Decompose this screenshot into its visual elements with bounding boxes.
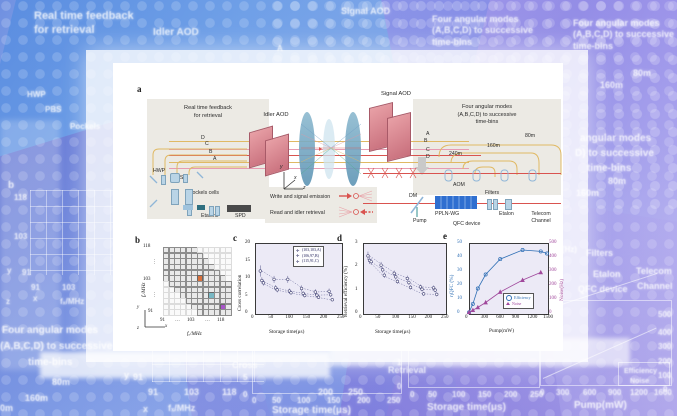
background-ghost-text: 118	[222, 387, 237, 398]
panel-e-lineplot: ηQFC (%) Noise(Hz) Pump(mW) 030060090012…	[441, 231, 563, 345]
panel-e-ylabel: ηQFC (%)	[449, 275, 455, 297]
background-ghost-text: 200	[504, 390, 517, 400]
background-ghost-text: 50	[428, 390, 437, 400]
background-ghost-text: 91	[133, 372, 143, 383]
data-point	[331, 298, 334, 301]
background-ghost-text: Retrieval	[388, 365, 426, 376]
background-ghost-text: time-bins	[28, 357, 72, 370]
background-ghost-text: 0	[397, 382, 401, 392]
background-ghost-text: Four angular modes(A,B,C,D) to successiv…	[432, 14, 533, 48]
feedback-box-title: Real time feedbackfor retrieval	[153, 105, 263, 120]
axis-tick-label: 50	[375, 315, 380, 320]
panel-b-xtick-dots2: ⋯	[205, 318, 210, 324]
background-ghost-text: 1200	[630, 388, 648, 398]
background-ghost-text: 103	[14, 232, 27, 242]
axis-tick-label: 1200	[527, 315, 537, 320]
background-ghost-text: Idler AOD	[153, 27, 199, 40]
axis-tick-label: 30	[457, 268, 462, 273]
data-point	[303, 294, 306, 297]
panel-c-legend-row-2: ✛(115,91,C)	[296, 259, 321, 265]
data-point	[435, 293, 438, 296]
background-ghost-text: 160m	[25, 393, 48, 404]
background-ghost-text: 200	[318, 387, 333, 398]
panel-c-legend-label-2: (115,91,C)	[302, 259, 319, 265]
mode-rays	[299, 112, 363, 186]
axis-tick-label: 150	[303, 315, 311, 320]
panel-b-axis-z: z	[137, 326, 139, 331]
background-ghost-text: Storage time(μs)	[272, 405, 351, 416]
axis-tick-label: 500	[549, 240, 557, 245]
background-ghost-text: Filters	[586, 248, 613, 259]
background-ghost-text: Efficiency	[624, 368, 657, 377]
panel-c-scatter: Cross correlation Storage time(μs) 05010…	[231, 233, 349, 345]
background-ghost-text: 0	[252, 396, 256, 406]
axis-tick-label: 0	[245, 310, 248, 315]
background-ghost-text: x	[143, 404, 148, 415]
pulse-train	[365, 165, 435, 181]
trend-line	[370, 262, 436, 295]
axis-tick-label: 600	[496, 315, 504, 320]
axis-tick-label: 20	[457, 282, 462, 287]
axis-tick-label: 3	[355, 240, 358, 245]
data-point	[261, 279, 264, 282]
axis-tick-label: 100	[285, 315, 293, 320]
background-ghost-text: 100	[658, 371, 671, 381]
panel-b-xtick-118: 118	[217, 318, 224, 323]
panel-b-ytick-103: 103	[143, 277, 151, 282]
axis-tick-label: 40	[457, 254, 462, 259]
background-ghost-text: 200	[658, 357, 671, 367]
background-ghost-text: Pump(mW)	[574, 400, 627, 413]
legend-marker-icon: ✛	[296, 254, 300, 258]
background-ghost-text: y	[7, 266, 11, 276]
background-ghost-text: PBS	[45, 105, 61, 115]
background-ghost-text: 80m	[52, 377, 70, 388]
filter-optic-2	[493, 199, 498, 210]
background-ghost-text: 400	[658, 328, 671, 338]
legend-write-icon	[339, 190, 375, 202]
panel-d-xlabel: Storage time(μs)	[375, 329, 410, 335]
fiber-80m-label: 80m	[525, 133, 541, 140]
panel-d-scatter: Retrieval efficiency (%) Storage time(μs…	[335, 233, 453, 345]
data-point	[471, 308, 474, 311]
mode-label-a-right: A	[426, 131, 434, 138]
signal-aod-label: Signal AOD	[371, 91, 421, 99]
axis-tick-label: 900	[512, 315, 520, 320]
ppln-label: PPLN-WG	[435, 211, 469, 218]
panel-c-xlabel: Storage time(μs)	[269, 329, 304, 335]
background-ghost-text: 91	[22, 268, 31, 278]
panel-b-axis-y: y	[137, 305, 139, 310]
pump-label: Pump	[413, 218, 431, 225]
panel-d-ylabel: Retrieval efficiency (%)	[343, 266, 349, 317]
data-point	[300, 287, 303, 290]
background-ghost-text: Four angular modes	[2, 325, 98, 338]
ppln-poling	[435, 196, 477, 209]
data-point	[290, 291, 293, 294]
legend-marker-triangle-icon	[506, 302, 510, 305]
background-ghost-text: z	[6, 297, 10, 307]
data-point	[396, 280, 399, 283]
mode-label-c-left: C	[205, 141, 213, 148]
panel-b-xtick-103: 103	[187, 318, 195, 323]
data-point	[422, 293, 425, 296]
trend-line	[262, 271, 331, 292]
axis-tick-label: 0	[457, 310, 460, 315]
axis-tick-label: 0	[251, 315, 254, 320]
mode-label-b-right: B	[424, 138, 432, 145]
background-ghost-text: 0	[540, 388, 544, 398]
mode-label-c-right: C	[426, 147, 434, 154]
background-ghost-text: Signal AOD	[341, 6, 390, 17]
axis-tick-label: 0	[355, 310, 358, 315]
background-ghost-text: Channel	[637, 281, 673, 292]
data-point	[381, 269, 384, 272]
panel-b-heatmap: 118 ⋮ 103 ⋮ 91 91 ⋯ 103 ⋯ 118 fᵧ/MHz fₓ/…	[135, 235, 235, 345]
axis-z-label-a: z	[303, 185, 309, 192]
background-ghost-text: 250	[387, 396, 400, 406]
background-ghost-text: 80m	[633, 68, 651, 79]
background-ghost-text: 100	[452, 390, 465, 400]
panel-c-legend: ✛(103,103,A) ✛(106,97,B) ✛(115,91,C)	[293, 246, 324, 267]
panel-e-legend: Efficiency Noise	[503, 293, 534, 309]
background-ghost-text: x	[33, 294, 37, 304]
panel-b-xlabel: fₓ/MHz	[187, 331, 202, 337]
data-point	[421, 288, 424, 291]
axis-tick-label: 2	[355, 263, 358, 268]
axis-tick-label: 0	[359, 315, 362, 320]
filters-label: Filters	[485, 190, 509, 197]
axis-tick-label: 200	[549, 282, 557, 287]
background-ghost-text: angular modes	[580, 133, 651, 146]
axis-triad-b	[141, 307, 167, 331]
background-ghost-text: 1600	[654, 388, 672, 398]
mirrors-left	[147, 169, 227, 213]
data-point	[370, 260, 373, 263]
trend-line	[262, 283, 331, 300]
data-point	[317, 296, 320, 299]
background-ghost-text: time-bins	[587, 163, 631, 176]
legend-marker-icon: ✛	[296, 249, 300, 253]
axis-tick-label: 300	[481, 315, 489, 320]
background-ghost-text: 900	[608, 388, 621, 398]
axis-tick-label: 5	[245, 293, 248, 298]
data-point	[287, 278, 290, 281]
axis-tick-label: 50	[457, 240, 462, 245]
background-ghost-text: 0	[243, 390, 247, 400]
axis-tick-label: 50	[268, 315, 273, 320]
background-ghost-text: 300	[556, 388, 569, 398]
background-ghost-text: Telecom	[636, 266, 672, 277]
panel-e-ylabel2: Noise(Hz)	[559, 279, 565, 301]
panel-d-data	[363, 243, 445, 313]
data-point	[329, 294, 332, 297]
panel-b-xtick-dots1: ⋯	[175, 318, 180, 324]
heatmap-grid	[163, 247, 231, 315]
etalon-optic-qfc	[505, 199, 512, 210]
panel-b-ytick-dots1: ⋮	[152, 259, 157, 265]
qfc-device-label: QFC device	[453, 221, 489, 228]
etalon-label: Etalon	[499, 211, 521, 218]
legend-read-icon	[339, 206, 375, 218]
data-point	[328, 290, 331, 293]
panel-b-axis-x: x	[165, 324, 167, 329]
axis-tick-label: 15	[245, 258, 250, 263]
axis-tick-label: 300	[549, 268, 557, 273]
axis-y-label-a: y	[280, 164, 286, 171]
legend-marker-icon: ✛	[296, 260, 300, 264]
fiber-160m-label: 160m	[487, 143, 507, 150]
background-ghost-text: 160m	[600, 80, 623, 91]
background-ghost-text: 0m	[0, 403, 13, 414]
data-point	[314, 291, 317, 294]
axis-tick-label: 200	[320, 315, 328, 320]
axis-tick-label: 0	[549, 310, 552, 315]
trend-line	[262, 280, 331, 295]
background-ghost-text: Four angular modes(A,B,C,D) to successiv…	[573, 18, 674, 52]
panel-b-ytick-118: 118	[143, 244, 150, 249]
panel-e-xlabel: Pump(mW)	[489, 328, 514, 334]
data-point	[409, 286, 412, 289]
beam-arrow-center	[319, 147, 322, 151]
axis-tick-label: 1500	[543, 315, 553, 320]
data-point	[273, 278, 276, 281]
fiber-240m-label: 240m	[449, 151, 469, 158]
data-point	[262, 282, 265, 285]
data-point	[276, 289, 279, 292]
background-ghost-text: Real time feedbackfor retrieval	[34, 10, 134, 38]
background-ghost-text: 80m	[608, 176, 626, 187]
trend-line	[370, 261, 436, 291]
background-ghost-text: y	[124, 370, 129, 381]
background-ghost-text: 118	[14, 193, 27, 203]
data-point	[434, 289, 437, 292]
background-ghost-text: 103	[62, 283, 75, 293]
axis-tick-label: 0	[465, 315, 468, 320]
background-ghost-text: fₓ/MHz	[168, 403, 195, 414]
data-point	[383, 274, 386, 277]
spd-label: SPD	[235, 213, 255, 220]
axis-tick-label: 20	[245, 240, 250, 245]
panel-c-ylabel: Cross correlation	[237, 275, 243, 311]
background-ghost-text: 103	[184, 387, 199, 398]
panel-e-legend-row-1: Noise	[506, 301, 531, 307]
aom-label: AOM	[453, 182, 469, 189]
background-ghost-text: Etalon	[593, 269, 621, 280]
axis-tick-label: 400	[549, 254, 557, 259]
panel-b-ylabel: fᵧ/MHz	[141, 283, 147, 297]
panel-a-schematic: Real time feedbackfor retrieval Four ang…	[113, 63, 563, 233]
axis-tick-label: 10	[245, 275, 250, 280]
background-ghost-text: fₓ/MHz	[60, 297, 84, 307]
data-point	[259, 270, 262, 273]
background-ghost-text: Storage time(μs)	[427, 402, 506, 415]
background-ghost-text: 0	[410, 390, 414, 400]
figure-card: a Real time feedbackfor retrieval Four a…	[113, 63, 563, 351]
background-ghost-text: Noise	[630, 378, 649, 387]
background-ghost-text: 300	[658, 342, 671, 352]
data-point	[367, 255, 370, 258]
data-point	[380, 264, 383, 267]
background-ghost-text: 91	[31, 283, 40, 293]
background-ghost-text: 250	[348, 387, 363, 398]
background-ghost-text: 5	[243, 373, 247, 383]
background-ghost-text: 150	[478, 390, 491, 400]
background-ghost-text: 600	[583, 388, 596, 398]
telecom-channel-label: TelecomChannel	[523, 211, 559, 225]
spd-detector	[227, 205, 251, 212]
panel-e-legend-label-1: Noise	[512, 301, 521, 307]
axis-tick-label: 10	[457, 296, 462, 301]
background-ghost-text: HWP	[27, 90, 46, 100]
axis-tick-label: 100	[392, 315, 400, 320]
data-point	[539, 271, 542, 274]
data-point	[521, 278, 524, 281]
data-point	[499, 290, 502, 293]
dichroic-mirror	[409, 195, 429, 217]
axis-tick-label: 1	[355, 287, 358, 292]
data-point	[395, 276, 398, 279]
axis-tick-label: 100	[549, 296, 557, 301]
axis-tick-label: 150	[408, 315, 416, 320]
axis-tick-label: 200	[425, 315, 433, 320]
background-ghost-text: b	[8, 180, 14, 193]
mode-label-b-left: B	[209, 149, 217, 156]
four-modes-title: Four angular modes(A,B,C,D) to successiv…	[419, 104, 555, 127]
data-point	[408, 281, 411, 284]
data-point	[406, 277, 409, 280]
screenshot-root: Real time feedbackfor retrievalIdler AOD…	[0, 0, 677, 416]
background-ghost-text: 91	[148, 387, 158, 398]
signal-aod-crystal-2	[387, 112, 411, 162]
data-point	[476, 306, 479, 309]
filter-optic-1	[487, 199, 492, 210]
data-point	[393, 272, 396, 275]
background-ghost-text: 500	[658, 310, 671, 320]
idler-aod-label: Idler AOD	[251, 112, 301, 120]
panel-b-ytick-dots2: ⋮	[152, 292, 157, 298]
mode-label-a-left: A	[213, 156, 221, 163]
